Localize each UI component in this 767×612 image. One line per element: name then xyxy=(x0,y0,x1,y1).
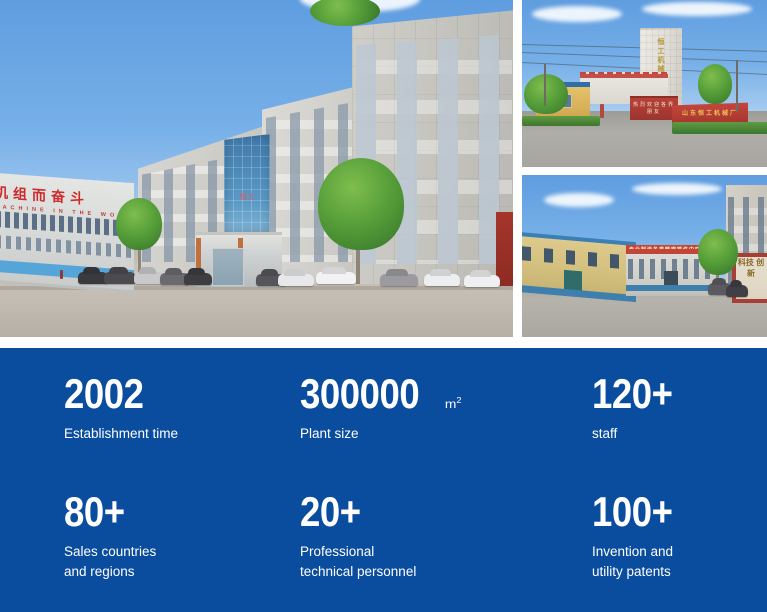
stat-unit: m2 xyxy=(445,396,462,411)
stat-label: Sales countries and regions xyxy=(64,542,264,582)
stat-plant-size: 300000m2 Plant size xyxy=(300,372,592,490)
company-stats-panel: 2002 Establishment time 300000m2 Plant s… xyxy=(0,348,767,612)
stat-label-line1: Invention and xyxy=(592,544,673,559)
stat-technical-personnel: 20+ Professional technical personnel xyxy=(300,490,592,582)
photo-gallery: 机组而奋斗 MACHINE IN THE WORLD 恒工 xyxy=(0,0,767,340)
stat-label: Professional technical personnel xyxy=(300,542,500,582)
stat-label: staff xyxy=(592,424,754,444)
stat-label: Invention and utility patents xyxy=(592,542,754,582)
cloud xyxy=(632,183,722,195)
stat-label-line1: Sales countries xyxy=(64,544,156,559)
parked-car xyxy=(316,272,356,284)
tree-foliage xyxy=(698,64,732,104)
parked-car xyxy=(278,274,314,286)
stat-staff: 120+ staff xyxy=(592,372,754,490)
photo-factory-entrance-gate[interactable]: 恒工机械 热烈欢迎各界朋友 山东恒工机械厂 xyxy=(522,0,767,167)
glass-curtain-mullions xyxy=(224,134,270,232)
stat-label-line1: Professional xyxy=(300,544,374,559)
stat-label-line1: staff xyxy=(592,426,617,441)
stat-value: 300000 xyxy=(300,372,419,416)
parked-car xyxy=(380,274,418,286)
stat-label: Establishment time xyxy=(64,424,264,444)
cloud xyxy=(532,6,622,22)
utility-pole xyxy=(736,60,738,112)
stat-patents: 100+ Invention and utility patents xyxy=(592,490,754,582)
cloud xyxy=(544,193,614,207)
stat-establishment-time: 2002 Establishment time xyxy=(64,372,300,490)
stat-label-line1: Establishment time xyxy=(64,426,178,441)
stat-label-line2: technical personnel xyxy=(300,562,500,582)
workshop-center-base-band xyxy=(626,285,716,291)
building-logo-text: 恒工 xyxy=(228,192,268,202)
gate-tower-sign: 恒工机械 xyxy=(655,38,667,74)
utility-pole xyxy=(544,64,546,106)
photo-factory-workshop-yard[interactable]: 专业制造各类精密铸件中空龙门架 科技 创新 xyxy=(522,175,767,337)
tree-foliage xyxy=(318,158,404,250)
parked-car xyxy=(464,275,500,287)
stat-value-wrap: 120+ xyxy=(592,372,754,416)
workshop-left-windows xyxy=(522,246,632,270)
stat-value: 20+ xyxy=(300,490,361,534)
hedge-row xyxy=(522,116,600,126)
stat-value-wrap: 300000m2 xyxy=(300,372,592,416)
left-factory-windows-row2 xyxy=(0,235,132,258)
cloud xyxy=(642,2,752,16)
tree-foliage xyxy=(116,198,162,250)
stat-value: 120+ xyxy=(592,372,673,416)
stats-grid: 2002 Establishment time 300000m2 Plant s… xyxy=(64,372,754,582)
stat-label-line2: and regions xyxy=(64,562,264,582)
stat-sales-countries: 80+ Sales countries and regions xyxy=(64,490,300,582)
stat-unit-exponent: 2 xyxy=(457,396,462,405)
parked-car xyxy=(424,274,460,286)
stat-value-wrap: 2002 xyxy=(64,372,300,416)
hedge-row xyxy=(672,122,767,134)
parked-car xyxy=(726,285,748,297)
stat-value-wrap: 80+ xyxy=(64,490,300,534)
stat-value: 100+ xyxy=(592,490,673,534)
pedestrian xyxy=(600,104,604,118)
stat-label-line2: utility patents xyxy=(592,562,754,582)
stat-value: 80+ xyxy=(64,490,125,534)
photo-main-office-building[interactable]: 机组而奋斗 MACHINE IN THE WORLD 恒工 xyxy=(0,0,513,337)
red-side-wall xyxy=(496,212,513,286)
tree-foliage xyxy=(698,229,738,275)
company-profile-page: 机组而奋斗 MACHINE IN THE WORLD 恒工 xyxy=(0,0,767,612)
company-monument-text: 科技 创新 xyxy=(736,257,766,279)
entrance-door xyxy=(212,248,244,286)
stat-value-wrap: 100+ xyxy=(592,490,754,534)
stat-value-wrap: 20+ xyxy=(300,490,592,534)
stat-value: 2002 xyxy=(64,372,144,416)
tree-foliage xyxy=(524,74,568,114)
stat-label: Plant size xyxy=(300,424,500,444)
stat-label-line1: Plant size xyxy=(300,426,359,441)
parked-car xyxy=(104,272,136,284)
pedestrian xyxy=(60,270,63,279)
workshop-building-left xyxy=(522,232,636,302)
parked-car xyxy=(184,273,212,285)
entrance-sign-wall-left-text: 热烈欢迎各界朋友 xyxy=(632,101,676,115)
stat-unit-base: m xyxy=(445,397,457,411)
